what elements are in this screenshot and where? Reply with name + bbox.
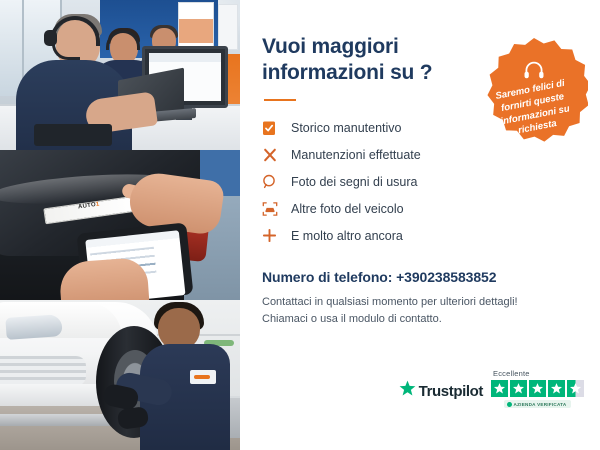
call-center-photo [0, 0, 240, 150]
car-scan-icon [262, 199, 284, 219]
list-item: Altre foto del veicolo [262, 195, 582, 222]
photo-column: AUTO1 [0, 0, 240, 450]
car-inspection-photo: AUTO1 [0, 150, 240, 300]
contact-line-2: Chiamaci o usa il modulo di contatto. [262, 311, 582, 328]
contact-instructions: Contattaci in qualsiasi momento per ulte… [262, 294, 582, 327]
list-item: E molto altro ancora [262, 222, 582, 249]
grille-decor [0, 356, 86, 386]
verified-badge: AZIENDA VERIFICATA [504, 400, 572, 408]
headlight-decor [5, 314, 62, 340]
mechanic-logo-patch [190, 370, 216, 384]
star-filled-2 [510, 380, 527, 397]
star-filled-1 [491, 380, 508, 397]
trustpilot-logo: Trustpilot [399, 380, 483, 402]
plus-icon [262, 226, 284, 246]
magnifier-icon [262, 172, 284, 192]
star-filled-4 [548, 380, 565, 397]
list-item-label: Foto dei segni di usura [284, 175, 417, 189]
poster-secondary-decor [218, 4, 238, 50]
tablet-on-desk-decor [34, 124, 112, 146]
verified-badge-label: AZIENDA VERIFICATA [514, 402, 567, 407]
wrench-cross-icon [262, 145, 284, 165]
trustpilot-rating: Eccellente [491, 369, 584, 408]
title-divider [264, 99, 296, 101]
list-item-label: E molto altro ancora [284, 229, 403, 243]
verified-check-icon [507, 402, 512, 407]
star-filled-3 [529, 380, 546, 397]
list-item-label: Storico manutentivo [284, 121, 401, 135]
star-rating [491, 380, 584, 397]
list-item: Foto dei segni di usura [262, 168, 582, 195]
list-item-label: Manutenzioni effettuate [284, 148, 421, 162]
hand-lower-decor [58, 257, 149, 300]
trustpilot-star-icon [399, 380, 416, 402]
info-request-banner: AUTO1 [0, 0, 600, 450]
list-item-label: Altre foto del veicolo [284, 202, 404, 216]
garage-wheel-photo [0, 300, 240, 450]
trustpilot-widget[interactable]: Trustpilot Eccellente [399, 369, 584, 408]
rating-label: Eccellente [491, 369, 530, 378]
page-title: Vuoi maggiori informazioni su ? [262, 34, 472, 85]
contact-line-1: Contattaci in qualsiasi momento per ulte… [262, 294, 582, 311]
star-half-5 [567, 380, 584, 397]
clipboard-check-icon [262, 118, 284, 138]
content-panel: Vuoi maggiori informazioni su ? Storico … [240, 0, 600, 450]
callout-badge: Saremo felici di fornirti queste informa… [480, 38, 588, 146]
trustpilot-logo-text: Trustpilot [419, 383, 483, 400]
phone-number[interactable]: Numero di telefono: +390238583852 [262, 269, 582, 285]
